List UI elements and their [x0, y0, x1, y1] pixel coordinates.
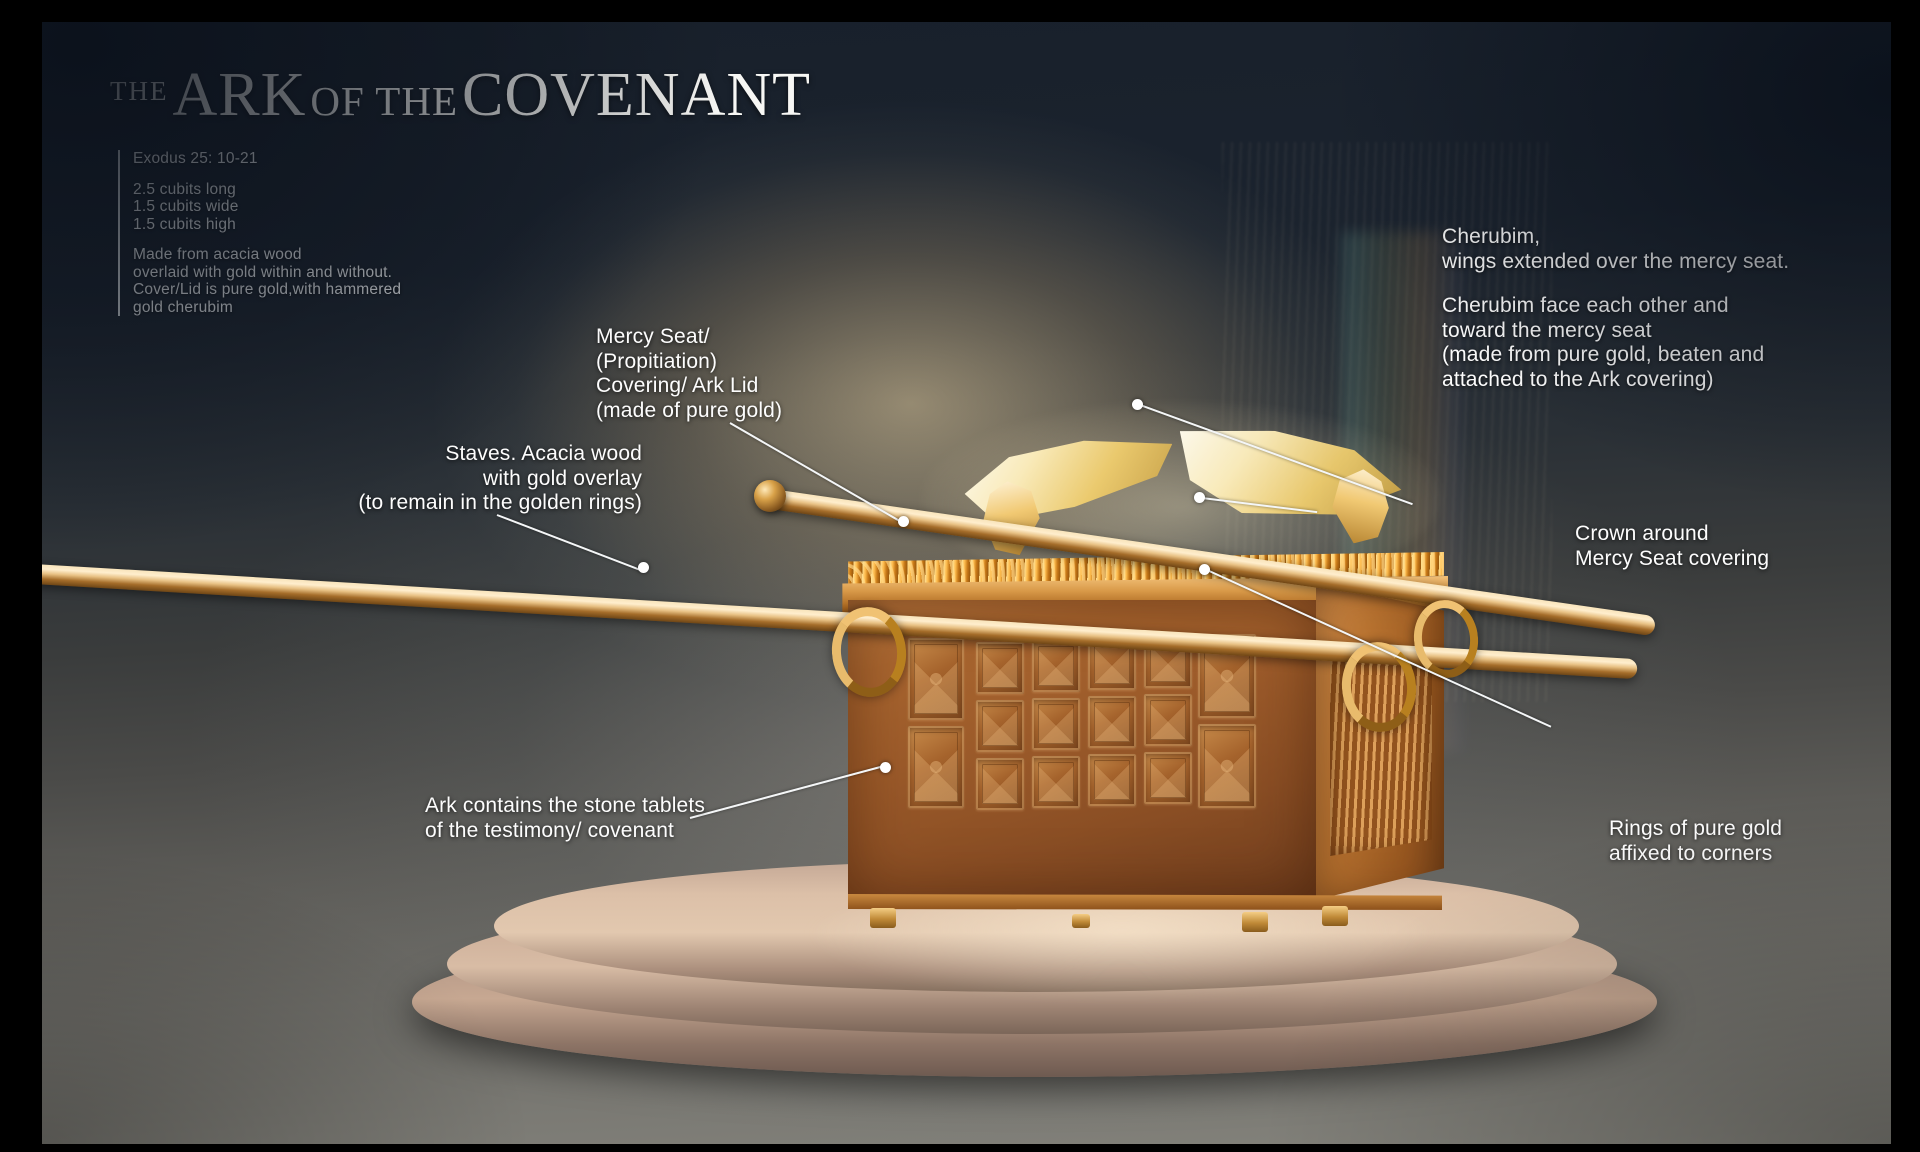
leader-dot-cherubim [1132, 399, 1143, 410]
callout-cherubim-face: Cherubim face each other and toward the … [1442, 294, 1882, 392]
callout-tablets: Ark contains the stone tablets of the te… [425, 794, 845, 843]
ark-foot [1072, 914, 1090, 928]
material-line: gold cherubim [133, 299, 401, 317]
scripture-reference: Exodus 25: 10-21 [133, 150, 401, 168]
front-panel-grid [908, 634, 1260, 820]
dimension-line: 1.5 cubits high [133, 216, 401, 234]
leader-dot-staves [638, 562, 649, 573]
poster-canvas: THE ARK OF THE COVENANT Exodus 25: 10-21… [0, 0, 1920, 1152]
ark-foot [1242, 912, 1268, 932]
page-title: THE ARK OF THE COVENANT [110, 60, 811, 131]
callout-mercy-seat: Mercy Seat/ (Propitiation) Covering/ Ark… [596, 325, 896, 423]
artwork-frame: THE ARK OF THE COVENANT Exodus 25: 10-21… [42, 22, 1891, 1144]
title-of-the: OF THE [310, 78, 458, 124]
title-the: THE [110, 76, 168, 106]
dimension-line: 1.5 cubits wide [133, 198, 401, 216]
dimension-line: 2.5 cubits long [133, 181, 401, 199]
callout-crown: Crown around Mercy Seat covering [1575, 522, 1891, 571]
spec-block: Exodus 25: 10-21 2.5 cubits long 1.5 cub… [118, 150, 401, 316]
stave-upper-knob [754, 480, 786, 512]
title-covenant: COVENANT [462, 61, 811, 129]
material-line: Made from acacia wood [133, 246, 401, 264]
title-ark: ARK [172, 61, 306, 129]
leader-dot-rings [1199, 564, 1210, 575]
leader-dot-crown [1194, 492, 1205, 503]
material-line: Cover/Lid is pure gold,with hammered [133, 281, 401, 299]
ark-foot [870, 908, 896, 928]
ark-base-moulding [842, 894, 1442, 910]
ark-foot [1322, 906, 1348, 926]
callout-rings: Rings of pure gold affixed to corners [1609, 817, 1891, 866]
leader-dot-tablets [880, 762, 891, 773]
callout-staves: Staves. Acacia wood with gold overlay (t… [242, 442, 642, 516]
leader-staves [497, 514, 642, 571]
leader-dot-mercy-seat [898, 516, 909, 527]
callout-cherubim-wings: Cherubim, wings extended over the mercy … [1442, 225, 1882, 274]
material-line: overlaid with gold within and without. [133, 264, 401, 282]
